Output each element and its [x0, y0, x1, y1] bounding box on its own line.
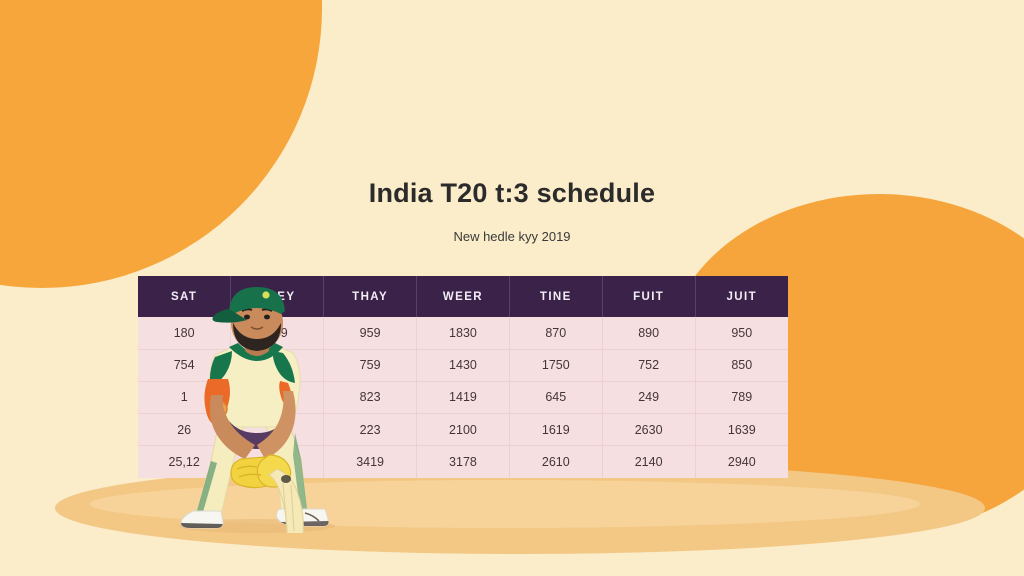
decorative-circle-top-left: [0, 0, 322, 288]
cell-r4c3: 3178: [417, 446, 510, 478]
cell-r4c5: 2140: [602, 446, 695, 478]
cell-r2c5: 249: [602, 381, 695, 413]
cell-r2c4: 645: [509, 381, 602, 413]
cell-r1c5: 752: [602, 349, 695, 381]
cell-r2c3: 1419: [417, 381, 510, 413]
cell-r3c5: 2630: [602, 414, 695, 446]
cell-r2c6: 789: [695, 381, 788, 413]
cap-logo-icon: [262, 291, 269, 298]
cell-r4c4: 2610: [509, 446, 602, 478]
heading-block: India T20 t:3 schedule New hedle kyy 201…: [0, 178, 1024, 244]
column-header-4[interactable]: TINE: [509, 276, 602, 317]
eye-right: [264, 315, 270, 320]
page-title: India T20 t:3 schedule: [0, 178, 1024, 209]
cell-r1c3: 1430: [417, 349, 510, 381]
cell-r0c6: 950: [695, 317, 788, 349]
cell-r3c3: 2100: [417, 414, 510, 446]
cell-r1c4: 1750: [509, 349, 602, 381]
cell-r3c6: 1639: [695, 414, 788, 446]
cricket-ball-icon: [281, 475, 291, 483]
poster-canvas: India T20 t:3 schedule New hedle kyy 201…: [0, 0, 1024, 576]
cell-r0c5: 890: [602, 317, 695, 349]
cell-r4c6: 2940: [695, 446, 788, 478]
column-header-5[interactable]: FUIT: [602, 276, 695, 317]
cell-r0c4: 870: [509, 317, 602, 349]
cricket-batsman-illustration: [145, 283, 360, 533]
cell-r3c4: 1619: [509, 414, 602, 446]
page-subtitle: New hedle kyy 2019: [0, 229, 1024, 244]
column-header-6[interactable]: JUIT: [695, 276, 788, 317]
eye-left: [244, 315, 250, 320]
cell-r0c3: 1830: [417, 317, 510, 349]
column-header-3[interactable]: WEER: [417, 276, 510, 317]
cell-r1c6: 850: [695, 349, 788, 381]
